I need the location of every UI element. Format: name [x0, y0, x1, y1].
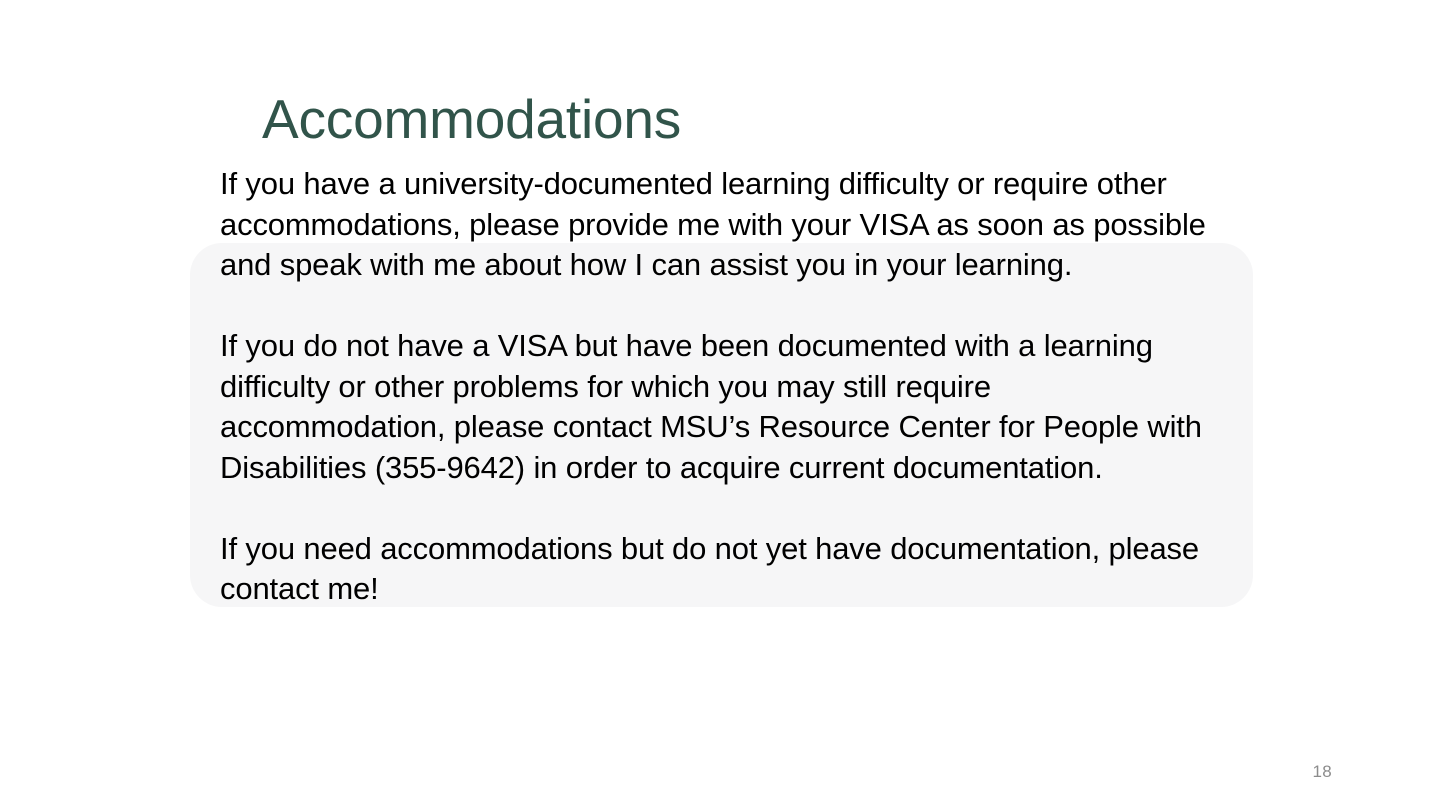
page-number: 18 [1312, 762, 1332, 782]
slide-body: If you have a university-documented lear… [220, 164, 1220, 610]
body-paragraph: If you have a university-documented lear… [220, 164, 1220, 286]
paragraph-spacer [220, 488, 1220, 529]
presentation-slide: Accommodations If you have a university-… [0, 0, 1440, 810]
body-paragraph: If you do not have a VISA but have been … [220, 326, 1220, 488]
page-title: Accommodations [262, 86, 681, 152]
paragraph-spacer [220, 286, 1220, 327]
body-paragraph: If you need accommodations but do not ye… [220, 529, 1220, 610]
